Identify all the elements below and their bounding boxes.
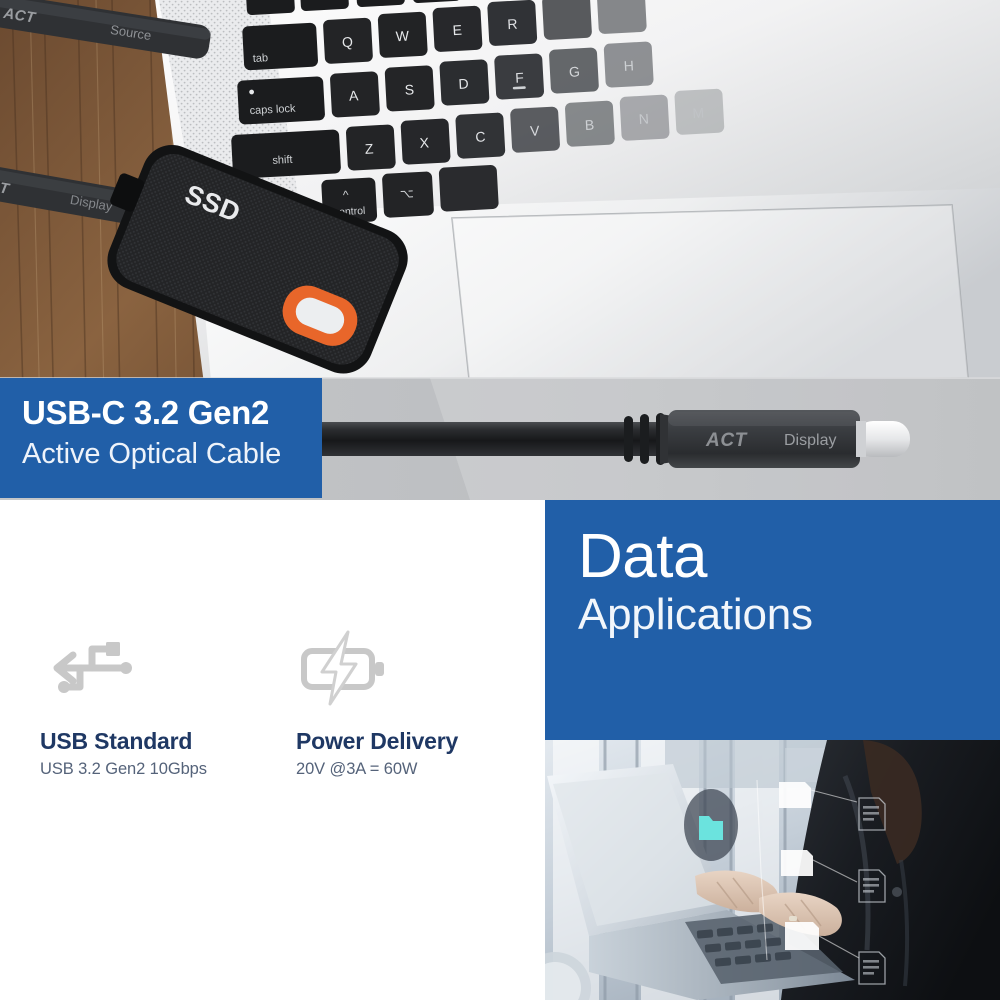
svg-text:G: G	[569, 63, 581, 80]
svg-text:⌥: ⌥	[400, 186, 415, 201]
svg-text:D: D	[458, 75, 469, 92]
svg-text:F: F	[515, 69, 524, 85]
feature-description: USB 3.2 Gen2 10Gbps	[40, 760, 258, 779]
product-title-banner: USB-C 3.2 Gen2 Active Optical Cable	[0, 378, 322, 498]
svg-text:M: M	[692, 105, 705, 122]
svg-text:H: H	[623, 57, 634, 74]
data-panel-subtitle: Applications	[578, 591, 813, 639]
product-infographic: tab Q W E R	[0, 0, 1000, 1000]
feature-usb-standard: USB Standard USB 3.2 Gen2 10Gbps	[0, 632, 258, 779]
product-title-main: USB-C 3.2 Gen2	[22, 392, 322, 434]
svg-text:Q: Q	[342, 34, 354, 51]
svg-text:V: V	[530, 122, 541, 139]
svg-text:E: E	[452, 22, 462, 38]
svg-text:A: A	[349, 87, 360, 104]
svg-text:shift: shift	[272, 154, 293, 167]
feature-description: 20V @3A = 60W	[296, 760, 498, 779]
svg-text:B: B	[584, 116, 594, 132]
svg-text:C: C	[475, 128, 486, 145]
feature-spec-section: USB Standard USB 3.2 Gen2 10Gbps Power D…	[0, 500, 545, 1000]
svg-text:caps lock: caps lock	[249, 103, 296, 117]
product-title-sub: Active Optical Cable	[22, 434, 322, 474]
feature-title: USB Standard	[40, 728, 258, 755]
svg-text:X: X	[419, 134, 430, 151]
svg-text:S: S	[404, 81, 414, 97]
application-photo	[545, 740, 1000, 1000]
usb-trident-icon	[40, 632, 258, 704]
feature-title: Power Delivery	[296, 728, 498, 755]
svg-text:Z: Z	[364, 140, 374, 156]
application-photo-illustration	[545, 740, 1000, 1000]
svg-text:N: N	[638, 111, 649, 128]
battery-charging-icon	[296, 632, 498, 704]
svg-text:^: ^	[343, 188, 350, 202]
connector-port-label: Display	[784, 432, 836, 449]
folder-badge-overlay	[684, 789, 738, 861]
svg-text:R: R	[507, 16, 518, 33]
svg-text:tab: tab	[252, 52, 268, 65]
data-panel-title: Data	[578, 526, 707, 588]
svg-text:W: W	[395, 27, 410, 44]
feature-list: USB Standard USB 3.2 Gen2 10Gbps Power D…	[0, 632, 545, 779]
connector-brand-label: ACT	[705, 430, 748, 451]
data-applications-panel: Data Applications	[545, 500, 1000, 740]
feature-power-delivery: Power Delivery 20V @3A = 60W	[258, 632, 498, 779]
